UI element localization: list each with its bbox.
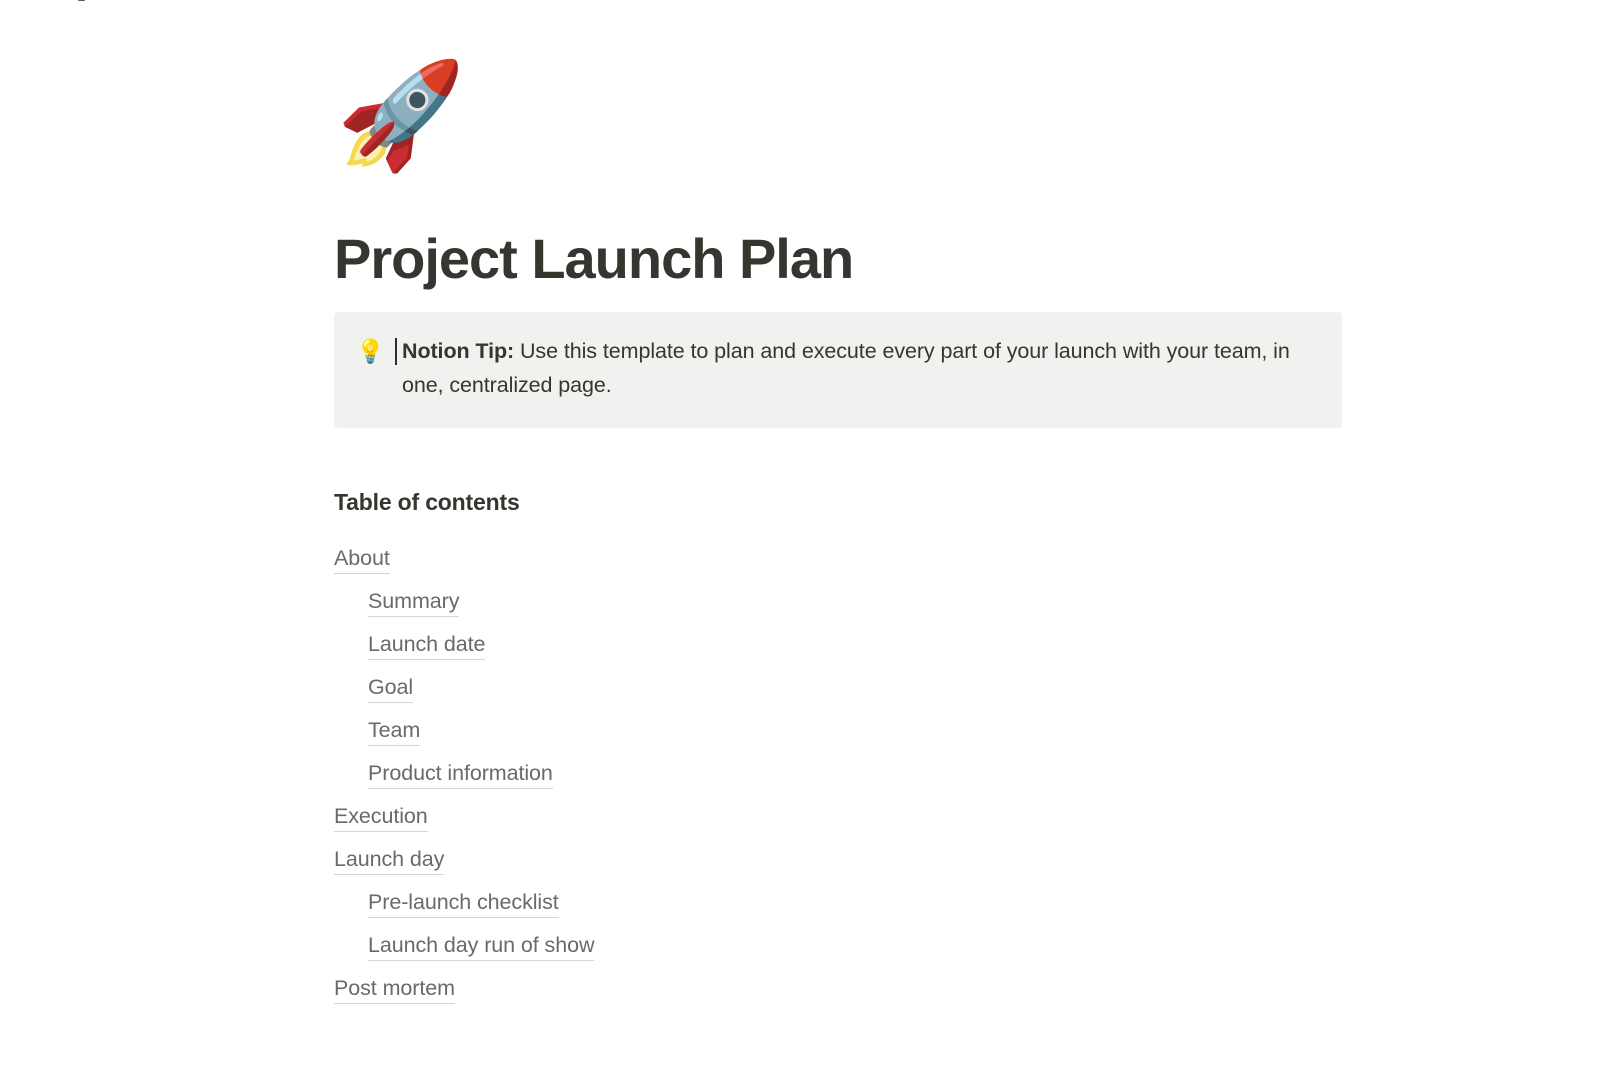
callout-text[interactable]: Notion Tip: Use this template to plan an… [402, 334, 1324, 402]
rocket-emoji-icon[interactable]: 🚀 [336, 58, 452, 174]
toc-link-label[interactable]: Execution [334, 803, 428, 832]
toc-item-launch-date[interactable]: Launch date [334, 624, 1034, 667]
callout-block[interactable]: 💡 Notion Tip: Use this template to plan … [334, 312, 1342, 428]
toc-link-label[interactable]: Post mortem [334, 975, 455, 1004]
page-title[interactable]: Project Launch Plan [334, 228, 853, 290]
callout-lead-label: Notion Tip: [402, 339, 514, 363]
toc-item-execution[interactable]: Execution [334, 796, 1034, 839]
table-of-contents-list: About Summary Launch date Goal Team Prod… [334, 538, 1034, 1011]
toc-item-goal[interactable]: Goal [334, 667, 1034, 710]
toc-item-post-mortem[interactable]: Post mortem [334, 968, 1034, 1011]
callout-body: Notion Tip: Use this template to plan an… [392, 334, 1324, 402]
toc-link-label[interactable]: Product information [368, 760, 553, 789]
text-cursor-caret [395, 338, 397, 365]
callout-body-text: Use this template to plan and execute ev… [402, 339, 1290, 397]
toc-item-launch-day[interactable]: Launch day [334, 839, 1034, 882]
table-of-contents-heading: Table of contents [334, 487, 520, 517]
toc-item-launch-day-run-of-show[interactable]: Launch day run of show [334, 925, 1034, 968]
toc-link-label[interactable]: About [334, 545, 390, 574]
toc-link-label[interactable]: Launch date [368, 631, 485, 660]
toc-item-pre-launch-checklist[interactable]: Pre-launch checklist [334, 882, 1034, 925]
toc-item-product-information[interactable]: Product information [334, 753, 1034, 796]
toc-item-about[interactable]: About [334, 538, 1034, 581]
toc-item-team[interactable]: Team [334, 710, 1034, 753]
toc-link-label[interactable]: Summary [368, 588, 459, 617]
toc-link-label[interactable]: Launch day [334, 846, 444, 875]
toc-link-label[interactable]: Team [368, 717, 420, 746]
toc-link-label[interactable]: Launch day run of show [368, 932, 594, 961]
toc-link-label[interactable]: Goal [368, 674, 413, 703]
light-bulb-icon[interactable]: 💡 [356, 334, 382, 368]
toc-link-label[interactable]: Pre-launch checklist [368, 889, 559, 918]
toc-item-summary[interactable]: Summary [334, 581, 1034, 624]
document-page: 🚀 Project Launch Plan 💡 Notion Tip: Use … [0, 0, 1600, 1066]
